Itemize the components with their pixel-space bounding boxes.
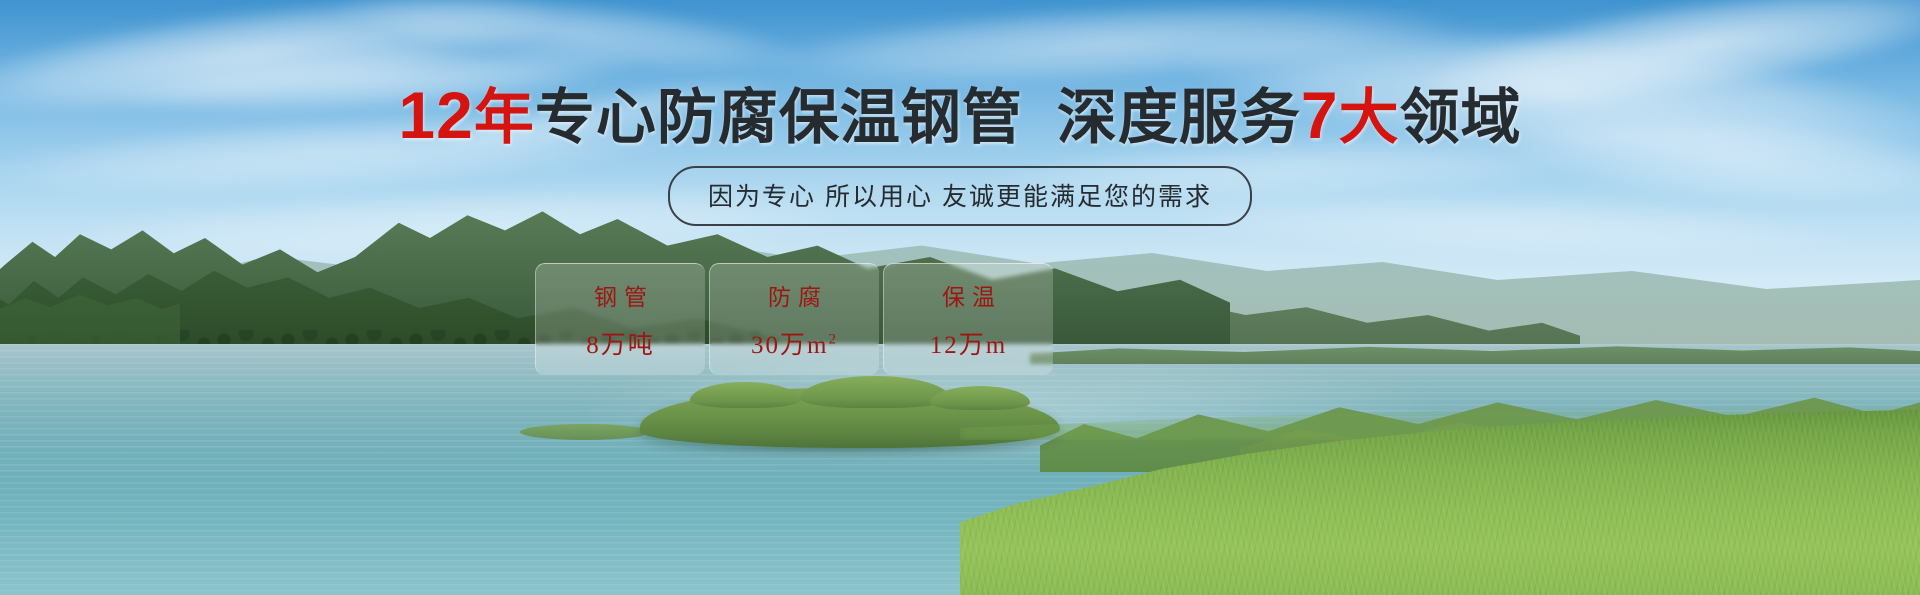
stat-card-value-superscript: 2	[828, 332, 838, 348]
headline-fields-unit: 大	[1339, 84, 1400, 151]
stat-cards-group: 钢管 8万吨 防腐 30万m2 保温 12万m	[535, 263, 1053, 375]
stat-card-title: 保温	[935, 278, 1002, 312]
headline-main-phrase: 专心防腐保温钢管	[535, 84, 1023, 151]
headline-service-phrase: 深度服务	[1057, 84, 1301, 151]
banner-subtitle-container: 因为专心 所以用心 友诚更能满足您的需求	[0, 166, 1920, 226]
stat-card-value: 30万m2	[751, 325, 838, 361]
stat-card-anticorrosion[interactable]: 防腐 30万m2	[709, 263, 879, 375]
stat-card-title: 防腐	[761, 278, 828, 312]
stat-card-value-text: 8万吨	[586, 332, 655, 359]
hero-banner: 12年专心防腐保温钢管深度服务7大领域 因为专心 所以用心 友诚更能满足您的需求…	[0, 0, 1920, 595]
stat-card-value-text: 12万m	[930, 332, 1007, 359]
headline-years-unit: 年	[474, 84, 535, 151]
banner-headline: 12年专心防腐保温钢管深度服务7大领域	[0, 82, 1920, 148]
stat-card-steel-pipe[interactable]: 钢管 8万吨	[535, 263, 705, 375]
headline-fields-word: 领域	[1400, 84, 1522, 151]
banner-subtitle-pill: 因为专心 所以用心 友诚更能满足您的需求	[668, 166, 1252, 226]
stat-card-value: 12万m	[930, 325, 1007, 361]
headline-fields-number: 7	[1301, 78, 1339, 152]
headline-years-number: 12	[398, 78, 473, 152]
stat-card-value: 8万吨	[586, 325, 655, 361]
banner-content: 12年专心防腐保温钢管深度服务7大领域 因为专心 所以用心 友诚更能满足您的需求…	[0, 0, 1920, 595]
stat-card-insulation[interactable]: 保温 12万m	[883, 263, 1053, 375]
stat-card-value-text: 30万m	[751, 332, 828, 359]
stat-card-title: 钢管	[587, 278, 654, 312]
